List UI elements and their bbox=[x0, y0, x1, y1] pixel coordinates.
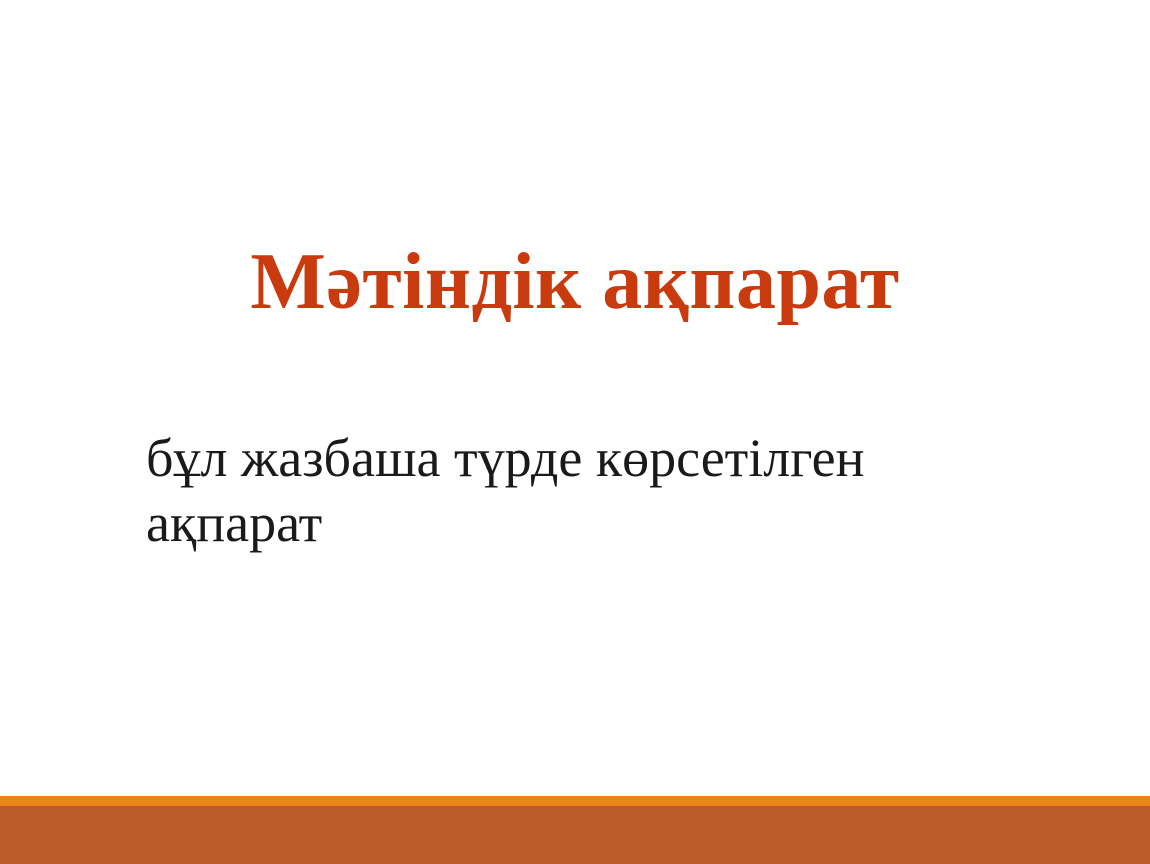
slide-body-placeholder: бұл жазбаша түрде көрсетілген ақпарат bbox=[146, 372, 1008, 610]
footer-accent-stripe bbox=[0, 796, 1150, 806]
slide-body-text: бұл жазбаша түрде көрсетілген ақпарат bbox=[146, 426, 1008, 556]
presentation-slide: Мәтіндік ақпарат бұл жазбаша түрде көрсе… bbox=[0, 0, 1150, 864]
slide-title: Мәтіндік ақпарат bbox=[0, 240, 1150, 324]
footer-band bbox=[0, 806, 1150, 864]
